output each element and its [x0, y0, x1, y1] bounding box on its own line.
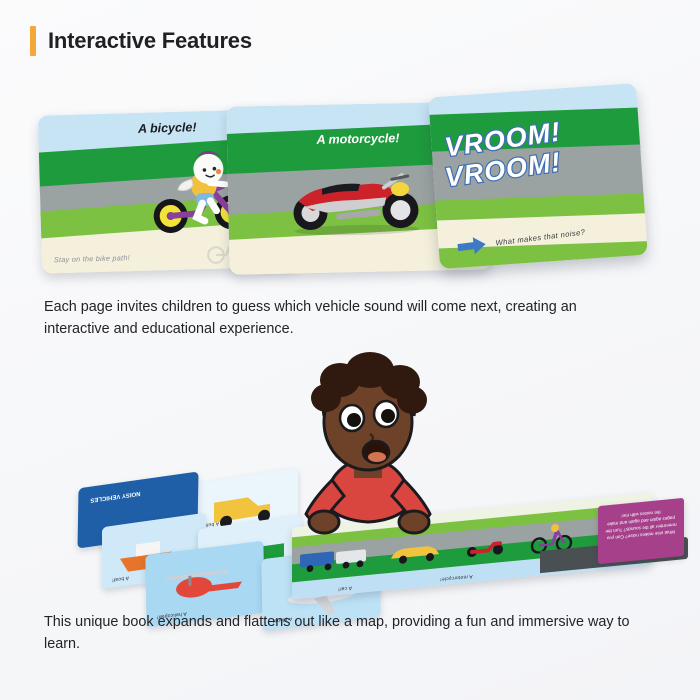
page-root: Interactive Features A bicycle! — [0, 0, 700, 700]
flat-book-scene: A bus! NOISY VEHICLES A boat! — [0, 352, 700, 602]
page-heading: Interactive Features — [30, 26, 252, 56]
flat-page-back-cover: What else makes noise? Can you remember … — [598, 498, 684, 564]
caption-interactive: Each page invites children to guess whic… — [44, 297, 644, 340]
motorcycle-illustration — [280, 164, 433, 237]
cover-title: NOISY VEHICLES — [90, 489, 140, 504]
back-cover-text: What else makes noise? Can you remember … — [605, 507, 677, 541]
open-book-illustration: A bicycle! — [32, 86, 668, 276]
caption-expands: This unique book expands and flattens ou… — [44, 612, 644, 655]
book-page-vroom: VROOM! VROOM! What makes that noise? — [428, 83, 647, 269]
accent-bar — [30, 26, 36, 56]
right-arrow-icon — [456, 235, 488, 258]
page-title: Interactive Features — [48, 28, 252, 54]
child-illustration — [262, 350, 472, 550]
